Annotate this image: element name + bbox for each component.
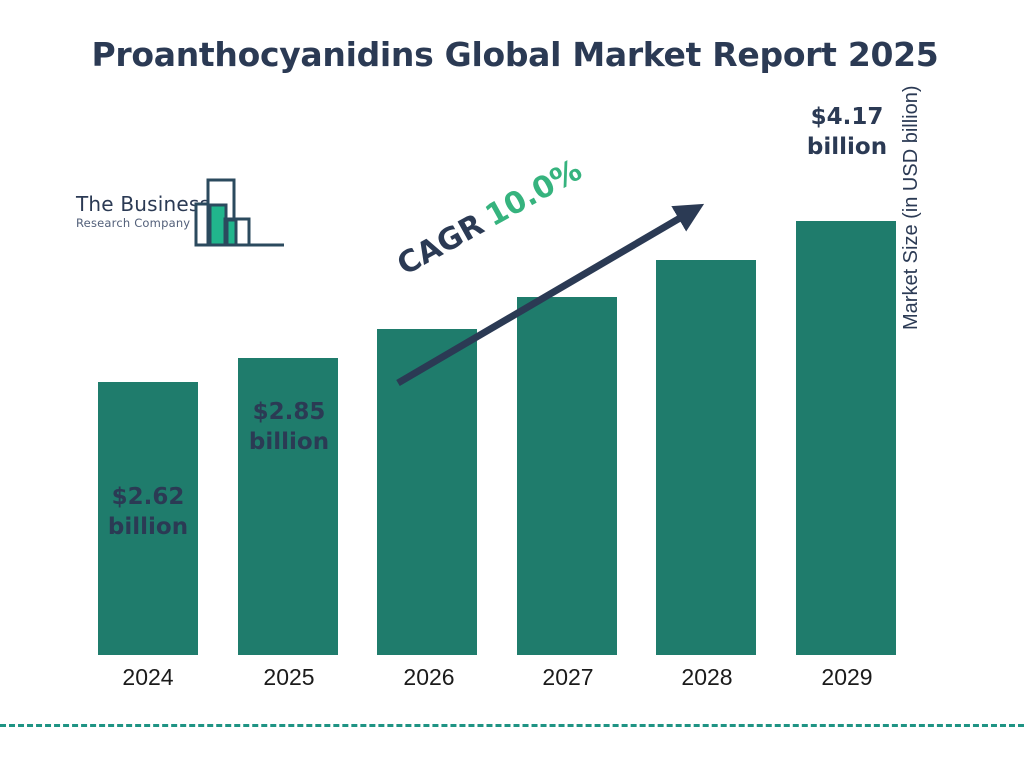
x-tick-2025: 2025 (219, 664, 359, 691)
bar-value-label-2024: $2.62 billion (78, 482, 218, 543)
x-tick-2024: 2024 (78, 664, 218, 691)
x-tick-2028: 2028 (637, 664, 777, 691)
bar-2027 (517, 297, 617, 655)
cagr-annotation: CAGR10.0% (392, 153, 588, 283)
bar-2029 (796, 221, 896, 655)
x-tick-2029: 2029 (777, 664, 917, 691)
bar-value-label-2029: $4.17 billion (777, 102, 917, 163)
bar-2026 (377, 329, 477, 655)
bar-2028 (656, 260, 756, 655)
bar-chart-plot: $2.62 billion $2.85 billion $4.17 billio… (0, 0, 1024, 768)
y-axis-title: Market Size (in USD billion) (900, 0, 923, 330)
footer-divider (0, 724, 1024, 727)
bar-value-label-2025: $2.85 billion (219, 397, 359, 458)
x-tick-2026: 2026 (359, 664, 499, 691)
cagr-prefix-label: CAGR (392, 207, 490, 283)
x-tick-2027: 2027 (498, 664, 638, 691)
cagr-value-label: 10.0% (480, 153, 588, 234)
chart-page: Proanthocyanidins Global Market Report 2… (0, 0, 1024, 768)
